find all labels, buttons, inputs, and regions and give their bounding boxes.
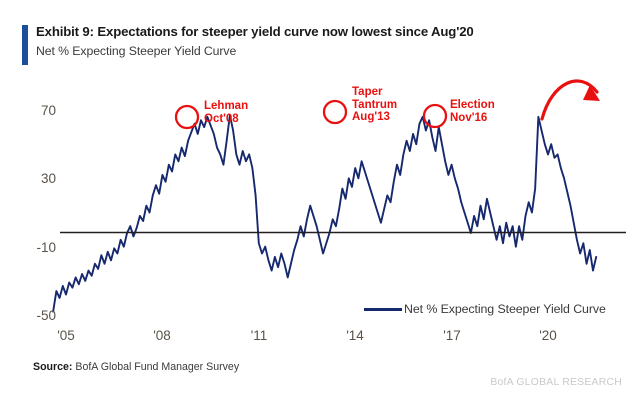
chart-page: Exhibit 9: Expectations for steeper yiel… bbox=[0, 0, 634, 403]
annotation-election: Election Nov'16 bbox=[450, 99, 495, 124]
annotation-election-line2: Nov'16 bbox=[450, 112, 495, 125]
chart-legend: Net % Expecting Steeper Yield Curve bbox=[364, 302, 606, 316]
annotation-taper-line2: Tantrum bbox=[352, 99, 397, 112]
y-tick-label-minus50: -50 bbox=[22, 308, 56, 323]
annotation-taper-line3: Aug'13 bbox=[352, 111, 397, 124]
x-tick-label-08: '08 bbox=[146, 328, 178, 343]
source-text: BofA Global Fund Manager Survey bbox=[75, 361, 239, 373]
series-line-0 bbox=[53, 115, 596, 311]
marker-election-circle bbox=[424, 105, 446, 127]
marker-lehman-circle bbox=[176, 106, 198, 128]
annotation-lehman-line1: Lehman bbox=[204, 100, 248, 113]
series-group bbox=[53, 115, 596, 311]
x-tick-label-05: '05 bbox=[50, 328, 82, 343]
y-tick-label-minus10: -10 bbox=[22, 240, 56, 255]
watermark: BofA GLOBAL RESEARCH bbox=[490, 377, 622, 388]
x-tick-label-11: '11 bbox=[243, 328, 275, 343]
y-tick-label-70: 70 bbox=[26, 103, 56, 118]
annotation-lehman-line2: Oct'08 bbox=[204, 113, 248, 126]
annotation-taper-line1: Taper bbox=[352, 86, 397, 99]
source-note: Source: BofA Global Fund Manager Survey bbox=[33, 361, 239, 373]
y-tick-label-30: 30 bbox=[26, 171, 56, 186]
downturn-arrow-icon bbox=[542, 81, 600, 119]
annotation-taper: Taper Tantrum Aug'13 bbox=[352, 86, 397, 124]
x-tick-label-20: '20 bbox=[532, 328, 564, 343]
source-label: Source: bbox=[33, 361, 72, 373]
x-tick-label-14: '14 bbox=[339, 328, 371, 343]
annotation-election-line1: Election bbox=[450, 99, 495, 112]
annotation-lehman: Lehman Oct'08 bbox=[204, 100, 248, 125]
x-tick-label-17: '17 bbox=[436, 328, 468, 343]
legend-color-swatch bbox=[364, 308, 402, 311]
legend-label: Net % Expecting Steeper Yield Curve bbox=[402, 302, 606, 316]
marker-taper-circle bbox=[324, 101, 346, 123]
